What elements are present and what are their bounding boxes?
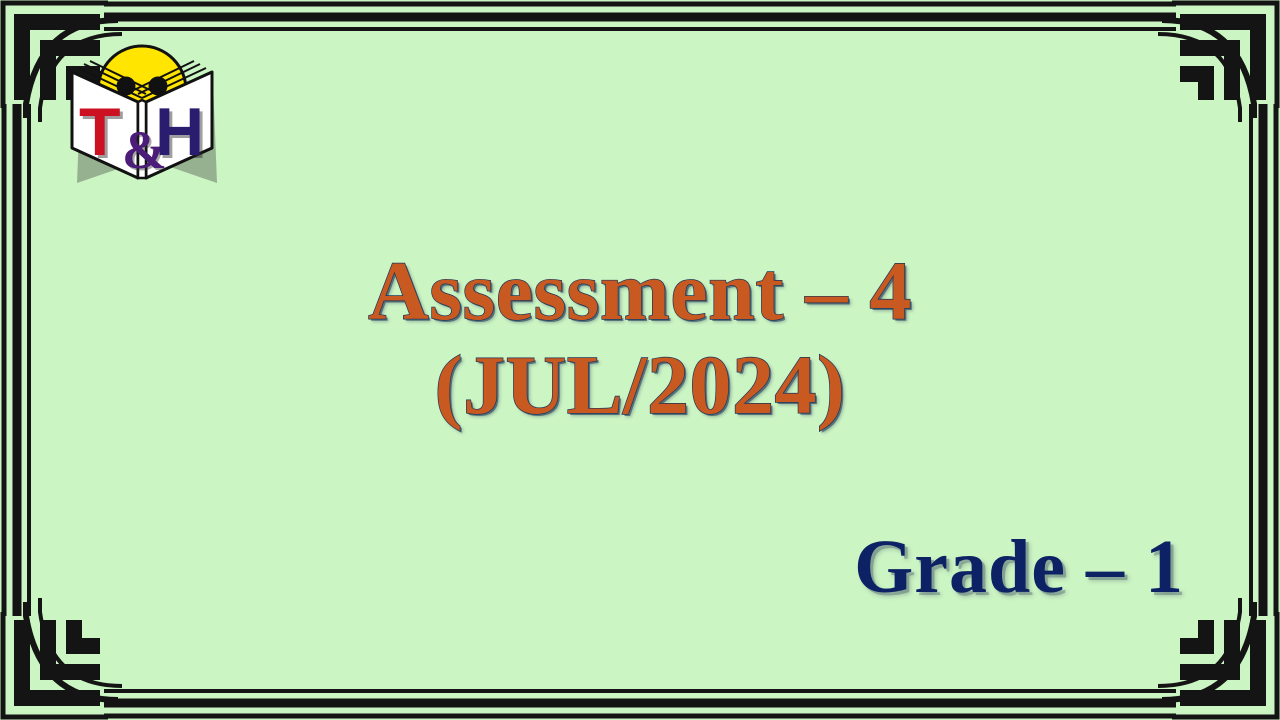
- corner-ornament-bottom-right: [1158, 598, 1277, 717]
- title-line-assessment: Assessment – 4: [0, 248, 1280, 336]
- logo-letter-T: T T: [79, 94, 124, 173]
- corner-ornament-top-right: [1158, 3, 1277, 122]
- svg-text:H: H: [155, 94, 204, 170]
- grade-text: Grade – 1: [854, 528, 1184, 608]
- corner-ornament-bottom-left: [3, 598, 122, 717]
- th-book-logo: T T & & H H: [58, 28, 226, 183]
- title-slide: T T & & H H Assessment – 4 (JUL/2024) Gr…: [0, 0, 1280, 720]
- grade-label: Grade – 1: [854, 528, 1184, 608]
- title-line-month-year: (JUL/2024): [0, 342, 1280, 430]
- logo-letter-H: H H: [155, 94, 207, 173]
- svg-text:T: T: [79, 94, 121, 170]
- assessment-title: Assessment – 4 (JUL/2024): [0, 248, 1280, 430]
